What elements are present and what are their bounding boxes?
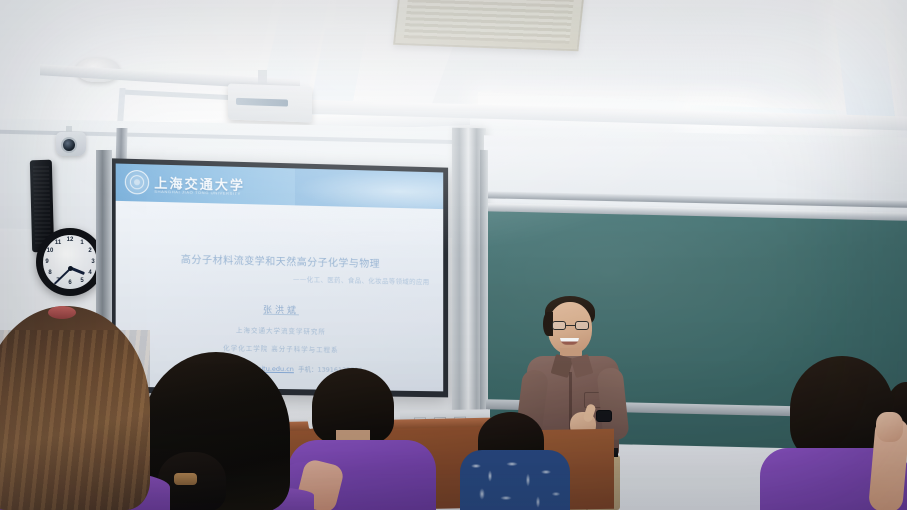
hair-tie-icon (48, 306, 76, 319)
slide-body: 高分子材料流变学和天然高分子化学与物理 ——化工、医药、食品、化妆品等领域的应用… (116, 201, 444, 392)
phone-label: 手机： (298, 365, 317, 373)
clock-numeral: 6 (66, 280, 74, 286)
clock-numeral: 11 (54, 240, 62, 246)
clock-numeral: 10 (46, 248, 54, 254)
air-conditioner-vent-icon (393, 0, 585, 51)
slide-subtitle: ——化工、医药、食品、化妆品等领域的应用 (293, 273, 430, 286)
slide-title: 高分子材料流变学和天然高分子化学与物理 (116, 249, 444, 271)
glasses-icon (552, 321, 589, 330)
attendee-hand (876, 412, 903, 442)
clock-numeral: 12 (66, 237, 74, 243)
attendee-hair-strands (0, 330, 150, 510)
projection-screen-frame: 上海交通大学 SHANGHAI JIAO TONG UNIVERSITY 高分子… (109, 158, 449, 397)
clock-face: 12 1 2 3 4 5 6 7 8 9 10 11 (43, 235, 97, 289)
wall-clock: 12 1 2 3 4 5 6 7 8 9 10 11 (36, 228, 104, 296)
lecture-hall-photo: 12 1 2 3 4 5 6 7 8 9 10 11 上海交通大学 SHANGH… (0, 0, 907, 510)
hair-clip-icon (174, 473, 197, 485)
clock-numeral: 5 (78, 278, 86, 284)
clock-numeral: 2 (86, 248, 94, 254)
slide-affiliation-1: 上海交通大学流变学研究所 (116, 322, 444, 338)
camera-lens-icon (61, 137, 77, 153)
wristwatch-icon (596, 410, 612, 422)
attendee-floral-pattern (460, 450, 570, 510)
projection-screen: 上海交通大学 SHANGHAI JIAO TONG UNIVERSITY 高分子… (116, 163, 444, 391)
clock-numeral: 1 (78, 240, 86, 246)
sjtu-seal-icon (125, 170, 149, 195)
clock-numeral: 8 (46, 270, 54, 276)
slide-presenter: 张洪斌 (116, 300, 444, 319)
ceiling-projector-icon (228, 84, 312, 123)
ceiling-light-fixture (833, 0, 896, 120)
glasses-lens (552, 321, 566, 330)
clock-numeral: 9 (43, 259, 51, 265)
glasses-lens (575, 321, 589, 330)
slide-affiliation-2: 化学化工学院 高分子科学与工程系 (116, 340, 444, 356)
clock-numeral: 4 (86, 270, 94, 276)
clock-center-pin (68, 266, 73, 271)
glasses-bridge (566, 325, 575, 326)
university-name-en: SHANGHAI JIAO TONG UNIVERSITY (154, 189, 241, 196)
